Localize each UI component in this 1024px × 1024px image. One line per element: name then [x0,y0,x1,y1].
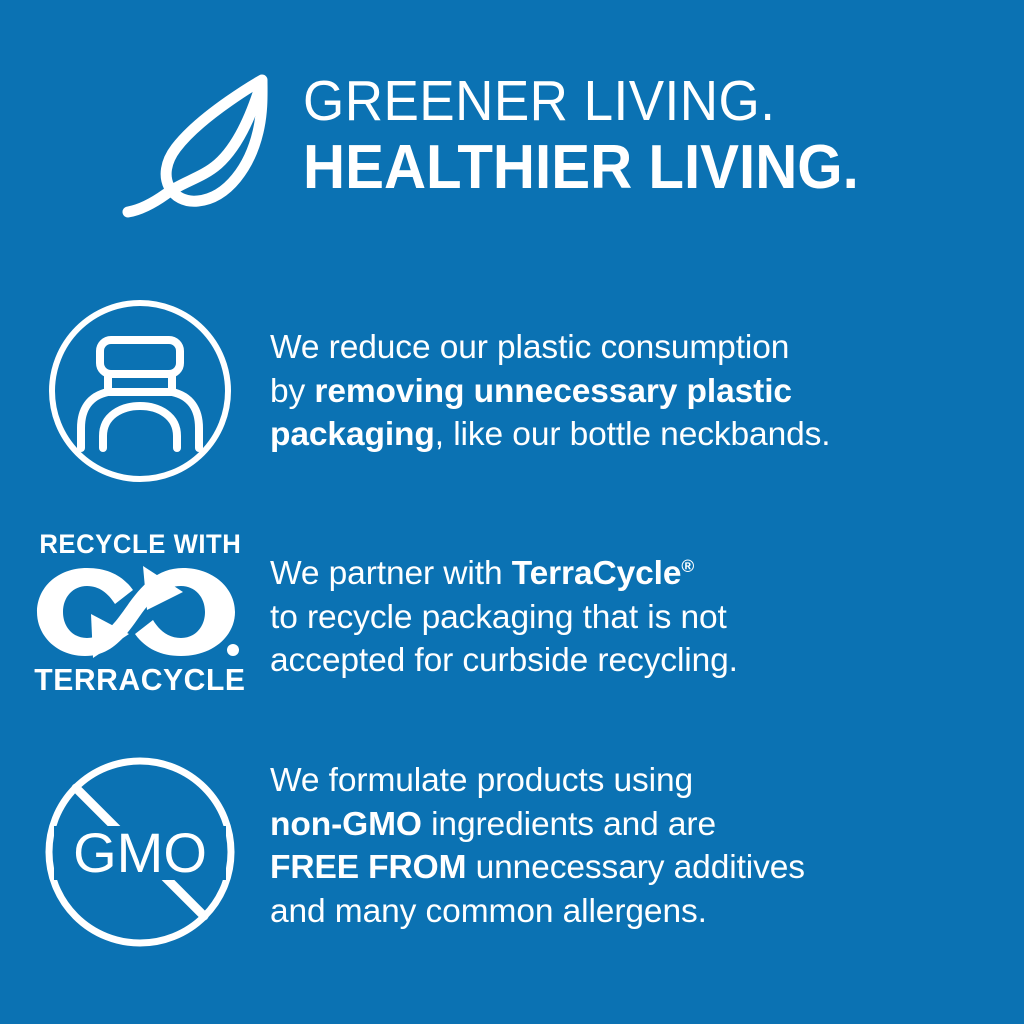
feature-line: by removing unnecessary plastic [270,370,1000,414]
bottle-neckband-icon [0,296,270,486]
header-banner: GREENER LIVING. HEALTHIER LIVING. [0,62,1024,232]
feature-row-terracycle: RECYCLE WITH TERRACY [0,530,1024,720]
terracycle-logo-bottom-text: TERRACYCLE [34,664,245,696]
feature-line: accepted for curbside recycling. [270,639,1000,683]
feature-line: FREE FROM unnecessary additives [270,846,1000,890]
gmo-label: GMO [73,821,207,884]
feature-text-plastic-reduction: We reduce our plastic consumption by rem… [270,296,1024,457]
feature-text-non-gmo: We formulate products using non-GMO ingr… [270,752,1024,933]
feature-line: to recycle packaging that is not [270,596,1000,640]
headline-healthier-living: HEALTHIER LIVING. [303,134,859,202]
feature-line: packaging, like our bottle neckbands. [270,413,1000,457]
no-gmo-icon: GMO [0,752,270,952]
headline-greener-living: GREENER LIVING. [303,70,853,132]
feature-line: We partner with TerraCycle® [270,552,1000,596]
feature-line: non-GMO ingredients and are [270,803,1000,847]
leaf-icon [105,62,295,222]
greener-living-infographic: GREENER LIVING. HEALTHIER LIVING. [0,0,1024,1024]
terracycle-logo-top-text: RECYCLE WITH [39,530,241,558]
feature-text-terracycle: We partner with TerraCycle® to recycle p… [270,530,1024,683]
header-text-group: GREENER LIVING. HEALTHIER LIVING. [303,70,894,202]
feature-line: We reduce our plastic consumption [270,326,1000,370]
feature-line: and many common allergens. [270,890,1000,934]
registered-mark-icon [227,644,239,656]
terracycle-logo: RECYCLE WITH TERRACY [0,530,270,696]
feature-row-plastic-reduction: We reduce our plastic consumption by rem… [0,296,1024,501]
feature-row-non-gmo: GMO We formulate products using non-GMO … [0,752,1024,967]
recycle-infinity-icon [35,562,245,662]
feature-line: We formulate products using [270,759,1000,803]
